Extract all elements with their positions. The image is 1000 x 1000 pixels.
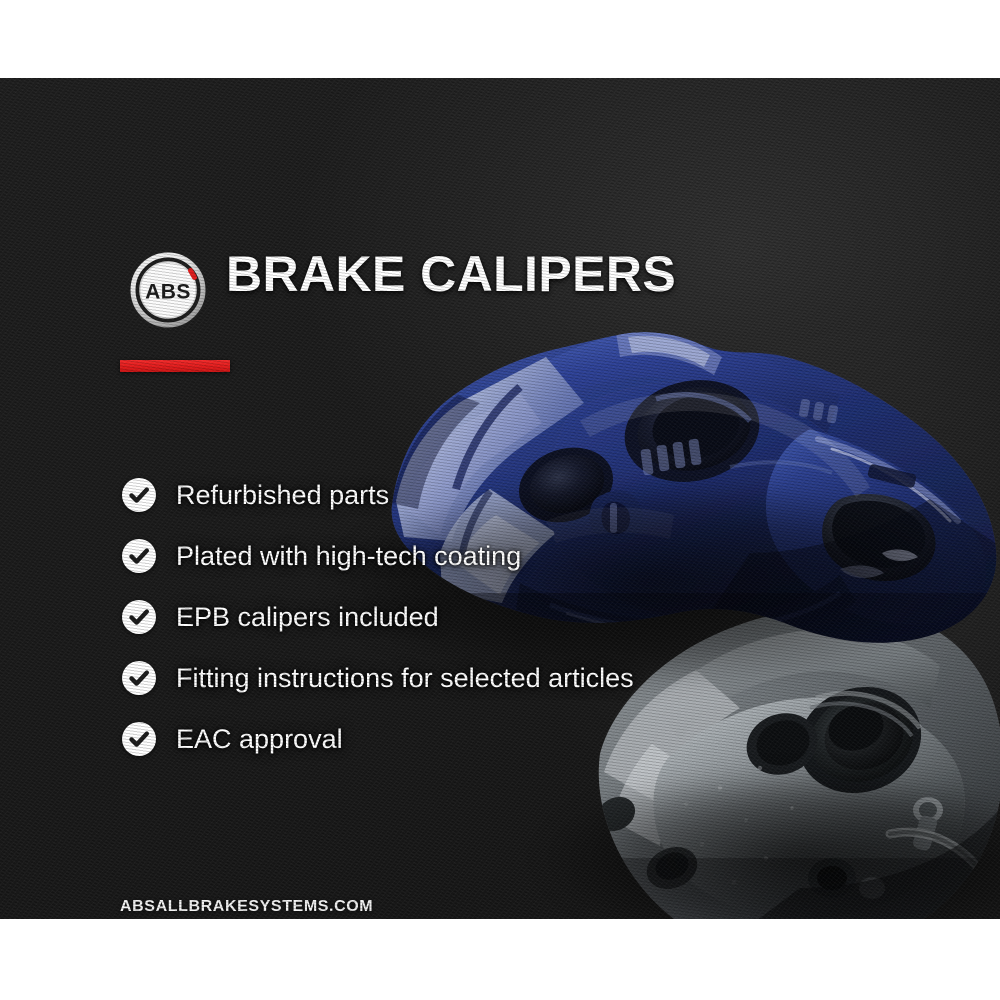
page-title: BRAKE CALIPERS — [226, 246, 676, 302]
dark-panel-background: ABS BRAKE CALIPERS Refurbished parts — [0, 78, 1000, 919]
list-item: Refurbished parts — [122, 464, 634, 525]
website-url: ABSALLBRAKESYSTEMS.COM — [120, 898, 373, 916]
list-item-label: Plated with high-tech coating — [176, 541, 521, 571]
list-item-label: Refurbished parts — [176, 480, 389, 510]
list-item: EPB calipers included — [122, 586, 634, 647]
list-item-label: EAC approval — [176, 724, 343, 754]
accent-rule — [120, 360, 230, 372]
list-item-label: EPB calipers included — [176, 602, 439, 632]
check-circle-icon — [122, 722, 156, 756]
check-circle-icon — [122, 478, 156, 512]
abs-roundel-logo: ABS — [128, 250, 208, 330]
list-item: Plated with high-tech coating — [122, 525, 634, 586]
check-circle-icon — [122, 600, 156, 634]
list-item: Fitting instructions for selected articl… — [122, 647, 634, 708]
promo-graphic: ABS BRAKE CALIPERS Refurbished parts — [0, 0, 1000, 1000]
check-circle-icon — [122, 661, 156, 695]
list-item: EAC approval — [122, 708, 634, 769]
check-circle-icon — [122, 539, 156, 573]
feature-list: Refurbished parts Plated with high-tech … — [122, 464, 634, 769]
logo-text: ABS — [145, 281, 191, 304]
list-item-label: Fitting instructions for selected articl… — [176, 663, 634, 693]
